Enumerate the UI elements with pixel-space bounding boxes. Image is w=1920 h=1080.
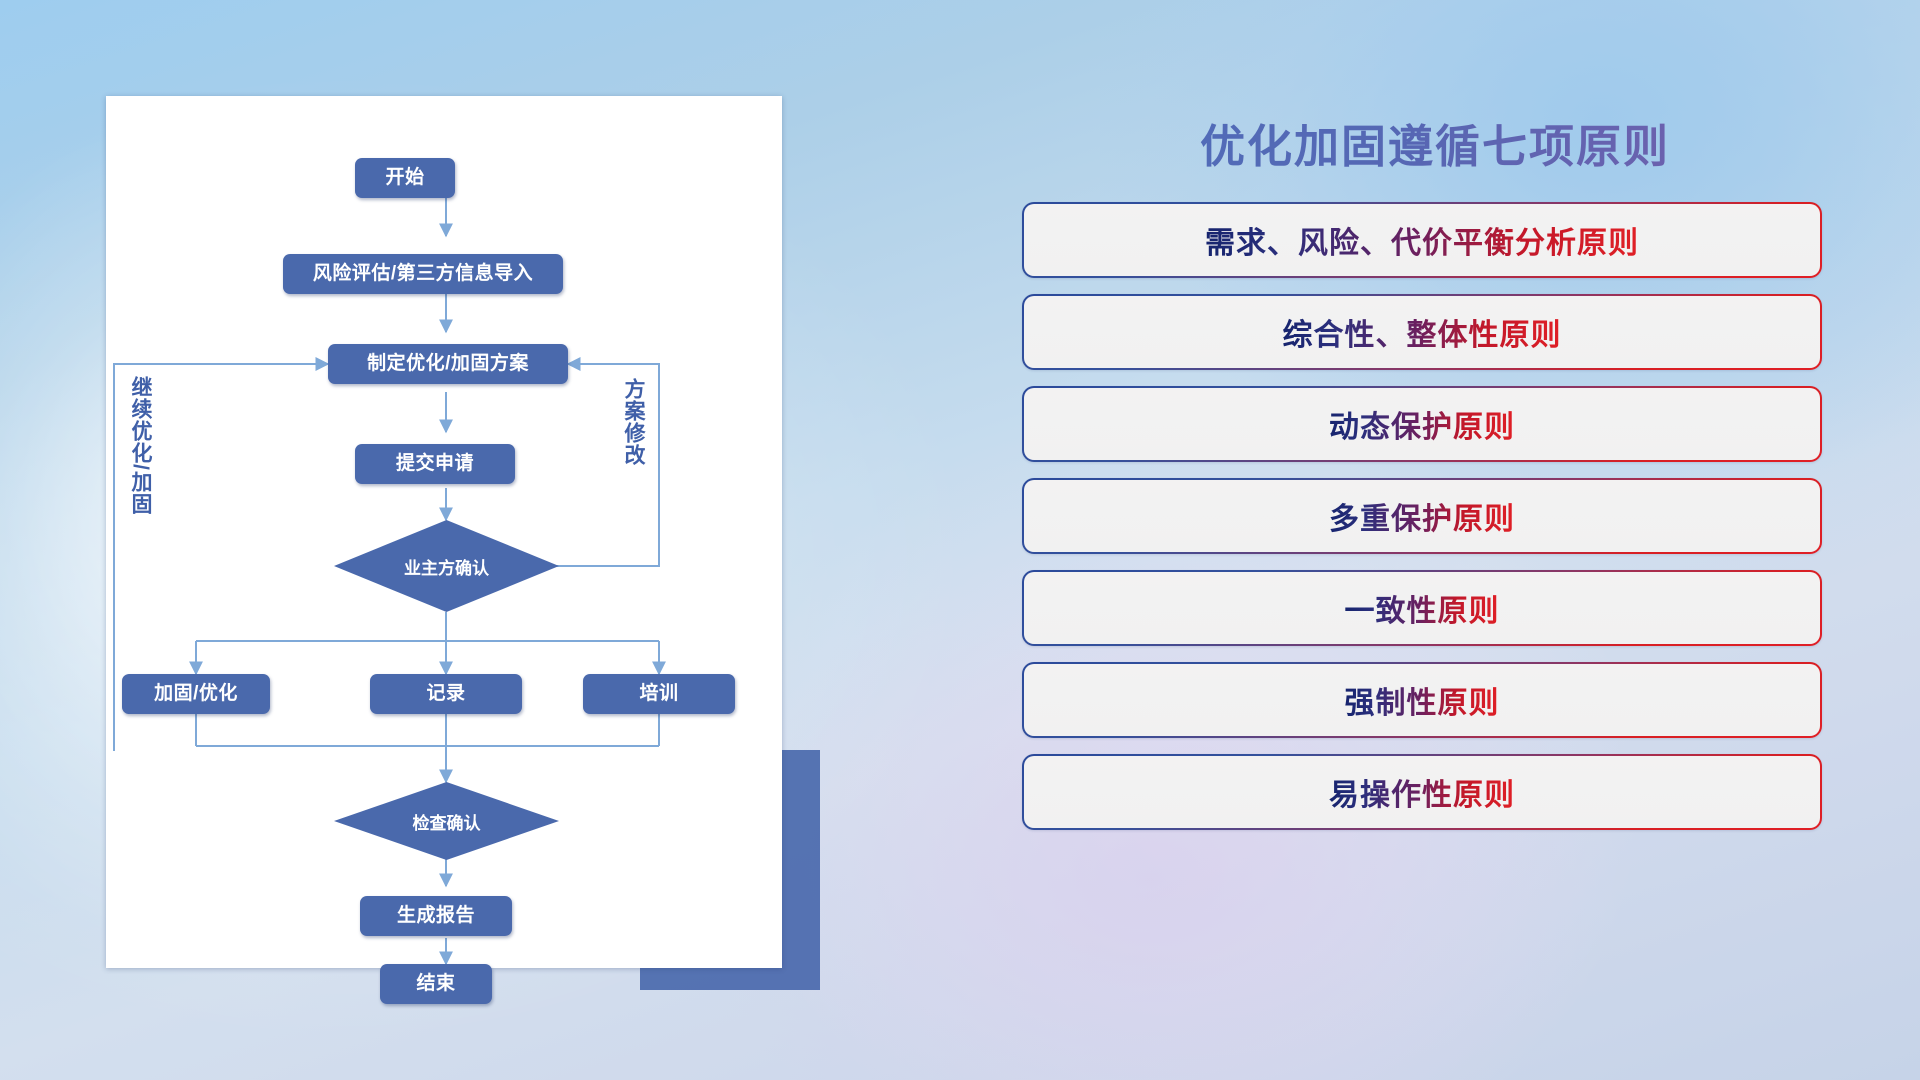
flow-node-start-label: 开始 xyxy=(385,168,424,189)
principle-card[interactable]: 动态保护原则 xyxy=(1022,386,1822,462)
flow-node-training[interactable]: 培训 xyxy=(583,674,735,714)
principle-card[interactable]: 多重保护原则 xyxy=(1022,478,1822,554)
principles-list: 需求、风险、代价平衡分析原则 综合性、整体性原则 动态保护原则 多重保护原则 一… xyxy=(1022,202,1822,846)
principle-label: 需求、风险、代价平衡分析原则 xyxy=(1205,218,1639,262)
flowchart-card: 开始 风险评估/第三方信息导入 制定优化/加固方案 提交申请 业主方确认 加固/… xyxy=(106,96,782,968)
principle-card[interactable]: 综合性、整体性原则 xyxy=(1022,294,1822,370)
flow-node-end-label: 结束 xyxy=(416,974,455,995)
flow-node-end[interactable]: 结束 xyxy=(380,964,492,1004)
slide-canvas: 开始 风险评估/第三方信息导入 制定优化/加固方案 提交申请 业主方确认 加固/… xyxy=(0,0,1920,1080)
flow-node-risk-assessment[interactable]: 风险评估/第三方信息导入 xyxy=(283,254,563,294)
principle-card[interactable]: 强制性原则 xyxy=(1022,662,1822,738)
flow-node-reinforce-label: 加固/优化 xyxy=(154,684,238,705)
principles-panel: 优化加固遵循七项原则 需求、风险、代价平衡分析原则 综合性、整体性原则 动态保护… xyxy=(1020,96,1850,996)
principle-label: 多重保护原则 xyxy=(1329,494,1515,538)
flow-node-reinforce[interactable]: 加固/优化 xyxy=(122,674,270,714)
flow-node-submit-application[interactable]: 提交申请 xyxy=(355,444,515,484)
principle-label: 强制性原则 xyxy=(1345,678,1500,722)
flow-edge-label-continue-optimize: 继续优化/加固 xyxy=(130,376,151,515)
flow-node-owner-confirm-label: 业主方确认 xyxy=(404,554,489,579)
flow-node-record[interactable]: 记录 xyxy=(370,674,522,714)
flow-node-plan[interactable]: 制定优化/加固方案 xyxy=(328,344,568,384)
flow-node-start[interactable]: 开始 xyxy=(355,158,455,198)
flow-node-training-label: 培训 xyxy=(639,684,678,705)
flow-node-submit-application-label: 提交申请 xyxy=(396,454,474,475)
flow-node-risk-assessment-label: 风险评估/第三方信息导入 xyxy=(313,264,533,285)
principle-label: 易操作性原则 xyxy=(1329,770,1515,814)
principle-card[interactable]: 易操作性原则 xyxy=(1022,754,1822,830)
principle-card[interactable]: 一致性原则 xyxy=(1022,570,1822,646)
flow-node-owner-confirm[interactable]: 业主方确认 xyxy=(334,520,559,612)
principle-label: 一致性原则 xyxy=(1345,586,1500,630)
flow-node-record-label: 记录 xyxy=(426,684,465,705)
flow-node-check-confirm[interactable]: 检查确认 xyxy=(334,782,559,860)
flow-node-generate-report-label: 生成报告 xyxy=(397,906,475,927)
principle-label: 动态保护原则 xyxy=(1329,402,1515,446)
principle-card[interactable]: 需求、风险、代价平衡分析原则 xyxy=(1022,202,1822,278)
flow-edge-label-plan-revision: 方案修改 xyxy=(623,378,644,466)
principles-title: 优化加固遵循七项原则 xyxy=(1020,110,1850,175)
flow-node-generate-report[interactable]: 生成报告 xyxy=(360,896,512,936)
flow-node-check-confirm-label: 检查确认 xyxy=(413,809,481,834)
principle-label: 综合性、整体性原则 xyxy=(1283,310,1562,354)
flow-node-plan-label: 制定优化/加固方案 xyxy=(367,354,529,375)
